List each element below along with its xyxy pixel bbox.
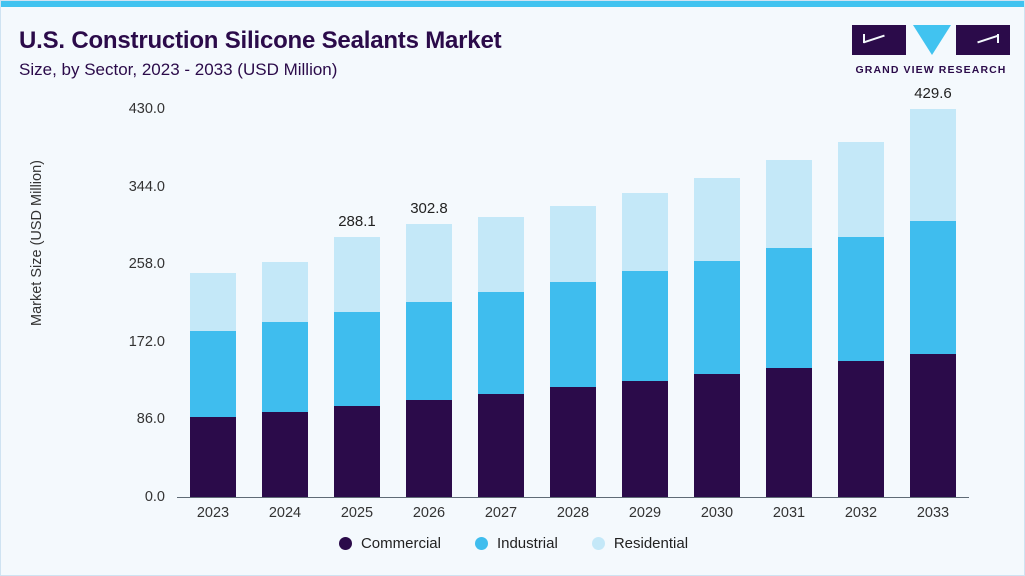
bar-stack[interactable] — [334, 237, 380, 497]
bar-value-label: 302.8 — [384, 200, 474, 217]
bar-stack[interactable] — [478, 217, 524, 497]
bar-segment-commercial[interactable] — [622, 381, 668, 497]
x-axis-line — [177, 497, 969, 498]
bar-segment-commercial[interactable] — [766, 368, 812, 497]
bar-segment-commercial[interactable] — [838, 361, 884, 497]
page-subtitle: Size, by Sector, 2023 - 2033 (USD Millio… — [19, 60, 337, 80]
chart-page: U.S. Construction Silicone Sealants Mark… — [0, 0, 1025, 576]
bar-segment-residential[interactable] — [262, 262, 308, 323]
bar-segment-commercial[interactable] — [262, 412, 308, 497]
bar-segment-residential[interactable] — [766, 160, 812, 248]
bar-segment-residential[interactable] — [478, 217, 524, 292]
legend-color-swatch — [475, 537, 488, 550]
bar-segment-industrial[interactable] — [334, 312, 380, 406]
accent-top-bar — [1, 1, 1025, 7]
y-axis-tick-label: 344.0 — [101, 179, 165, 195]
bar-segment-industrial[interactable] — [478, 292, 524, 394]
bar-segment-commercial[interactable] — [406, 400, 452, 497]
x-axis-tick-label: 2033 — [888, 505, 978, 521]
logo-tick-left — [863, 34, 865, 43]
bar-stack[interactable] — [550, 206, 596, 497]
bar-segment-industrial[interactable] — [262, 322, 308, 412]
legend-label: Industrial — [497, 535, 558, 552]
bar-stack[interactable] — [622, 193, 668, 497]
legend-item[interactable]: Industrial — [475, 535, 558, 552]
y-axis-tick-label: 172.0 — [101, 334, 165, 350]
legend-color-swatch — [339, 537, 352, 550]
y-axis-tick-label: 0.0 — [101, 489, 165, 505]
bar-stack[interactable] — [190, 273, 236, 497]
plot-area: 288.1302.8429.6 — [177, 109, 969, 497]
bar-segment-residential[interactable] — [406, 224, 452, 302]
legend-color-swatch — [592, 537, 605, 550]
y-axis-tick-labels: 0.086.0172.0258.0344.0430.0 — [99, 109, 165, 499]
bar-segment-residential[interactable] — [694, 178, 740, 260]
bar-segment-industrial[interactable] — [838, 237, 884, 362]
chart-legend: CommercialIndustrialResidential — [1, 535, 1025, 552]
bar-segment-residential[interactable] — [190, 273, 236, 330]
bar-stack[interactable] — [406, 224, 452, 497]
bar-segment-industrial[interactable] — [406, 302, 452, 400]
logo-text: GRAND VIEW RESEARCH — [852, 64, 1010, 76]
bar-segment-residential[interactable] — [910, 109, 956, 221]
logo-block-left — [852, 25, 906, 55]
bar-stack[interactable] — [262, 262, 308, 498]
y-axis-tick-label: 258.0 — [101, 256, 165, 272]
bar-segment-commercial[interactable] — [910, 354, 956, 497]
page-title: U.S. Construction Silicone Sealants Mark… — [19, 27, 501, 55]
bar-segment-residential[interactable] — [334, 237, 380, 312]
bar-segment-industrial[interactable] — [694, 261, 740, 375]
bar-segment-residential[interactable] — [550, 206, 596, 282]
legend-label: Commercial — [361, 535, 441, 552]
logo-tick-right — [997, 34, 999, 43]
bar-segment-industrial[interactable] — [190, 331, 236, 418]
grand-view-research-logo: GRAND VIEW RESEARCH — [852, 25, 1010, 77]
bar-stack[interactable] — [694, 178, 740, 497]
y-axis-tick-label: 86.0 — [101, 411, 165, 427]
y-axis-tick-label: 430.0 — [101, 101, 165, 117]
legend-item[interactable]: Commercial — [339, 535, 441, 552]
bar-stack[interactable] — [766, 160, 812, 497]
bar-stack[interactable] — [838, 142, 884, 497]
bar-segment-commercial[interactable] — [478, 394, 524, 497]
bar-segment-commercial[interactable] — [550, 387, 596, 497]
bar-segment-commercial[interactable] — [190, 417, 236, 497]
bar-segment-commercial[interactable] — [334, 406, 380, 497]
bar-segment-industrial[interactable] — [766, 248, 812, 368]
legend-item[interactable]: Residential — [592, 535, 688, 552]
bar-value-label: 429.6 — [888, 85, 978, 102]
bar-segment-residential[interactable] — [622, 193, 668, 271]
y-axis-title: Market Size (USD Million) — [29, 113, 45, 373]
logo-marks — [852, 25, 1010, 59]
bar-segment-industrial[interactable] — [622, 271, 668, 381]
bar-segment-commercial[interactable] — [694, 374, 740, 497]
bar-segment-industrial[interactable] — [550, 282, 596, 387]
bar-segment-residential[interactable] — [838, 142, 884, 236]
bar-segment-industrial[interactable] — [910, 221, 956, 354]
logo-triangle-icon — [913, 25, 951, 55]
legend-label: Residential — [614, 535, 688, 552]
bar-stack[interactable] — [910, 109, 956, 497]
